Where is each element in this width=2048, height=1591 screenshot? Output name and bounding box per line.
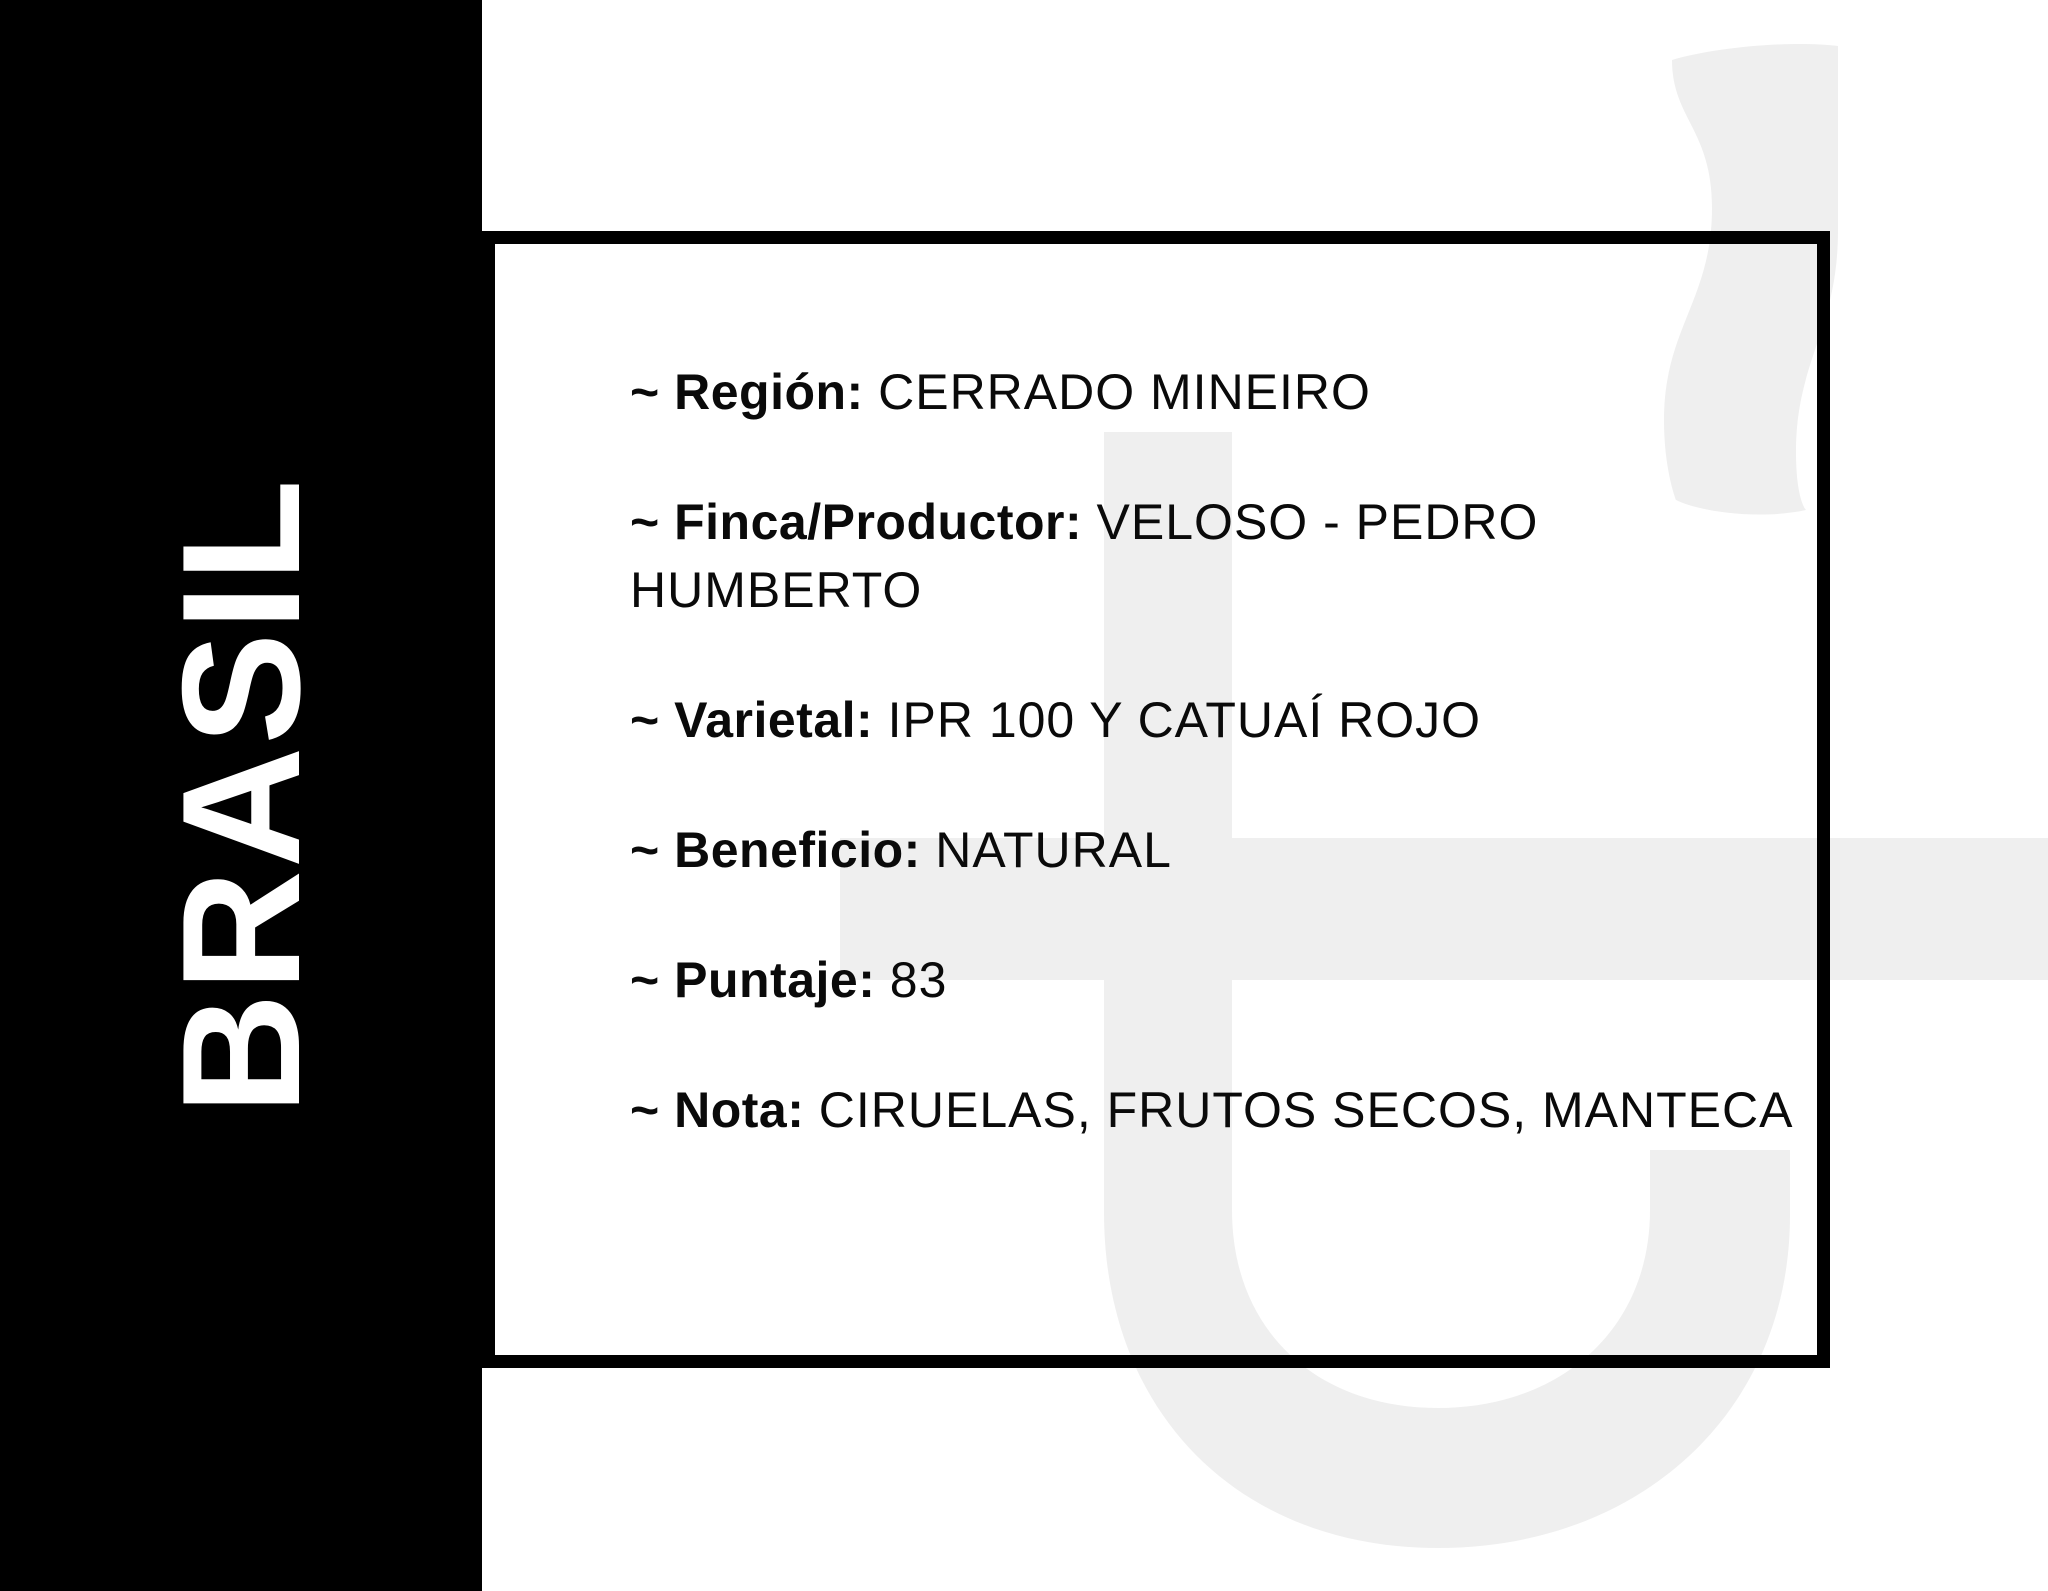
bullet-tilde-region: ~ — [630, 364, 660, 420]
detail-value-beneficio: NATURAL — [935, 822, 1172, 878]
detail-label-puntaje: Puntaje: — [674, 952, 875, 1008]
detail-label-beneficio: Beneficio: — [674, 822, 921, 878]
bullet-tilde-puntaje: ~ — [630, 952, 660, 1008]
detail-label-nota: Nota: — [674, 1082, 804, 1138]
bullet-tilde-finca-productor: ~ — [630, 494, 660, 550]
detail-row-beneficio: ~ Beneficio: NATURAL — [630, 816, 1810, 884]
detail-value-puntaje: 83 — [890, 952, 948, 1008]
detail-row-varietal: ~ Varietal: IPR 100 Y CATUAÍ ROJO — [630, 686, 1810, 754]
detail-value-varietal: IPR 100 Y CATUAÍ ROJO — [888, 692, 1481, 748]
country-title: BRASIL — [157, 477, 325, 1114]
coffee-details-list: ~ Región: CERRADO MINEIRO ~ Finca/Produc… — [630, 358, 1810, 1144]
detail-row-nota: ~ Nota: CIRUELAS, FRUTOS SECOS, MANTECA — [630, 1076, 1810, 1144]
detail-label-finca-productor: Finca/Productor: — [674, 494, 1082, 550]
detail-value-region: CERRADO MINEIRO — [878, 364, 1371, 420]
detail-label-varietal: Varietal: — [674, 692, 873, 748]
country-sidebar: BRASIL — [0, 0, 482, 1591]
detail-label-region: Región: — [674, 364, 864, 420]
detail-value-nota: CIRUELAS, FRUTOS SECOS, MANTECA — [819, 1082, 1794, 1138]
bullet-tilde-varietal: ~ — [630, 692, 660, 748]
slide-canvas: BRASIL ~ Región: CERRADO MINEIRO ~ Finca… — [0, 0, 2048, 1591]
bullet-tilde-beneficio: ~ — [630, 822, 660, 878]
detail-row-region: ~ Región: CERRADO MINEIRO — [630, 358, 1810, 426]
bullet-tilde-nota: ~ — [630, 1082, 660, 1138]
detail-row-puntaje: ~ Puntaje: 83 — [630, 946, 1810, 1014]
detail-row-finca-productor: ~ Finca/Productor: VELOSO - PEDRO HUMBER… — [630, 488, 1810, 624]
